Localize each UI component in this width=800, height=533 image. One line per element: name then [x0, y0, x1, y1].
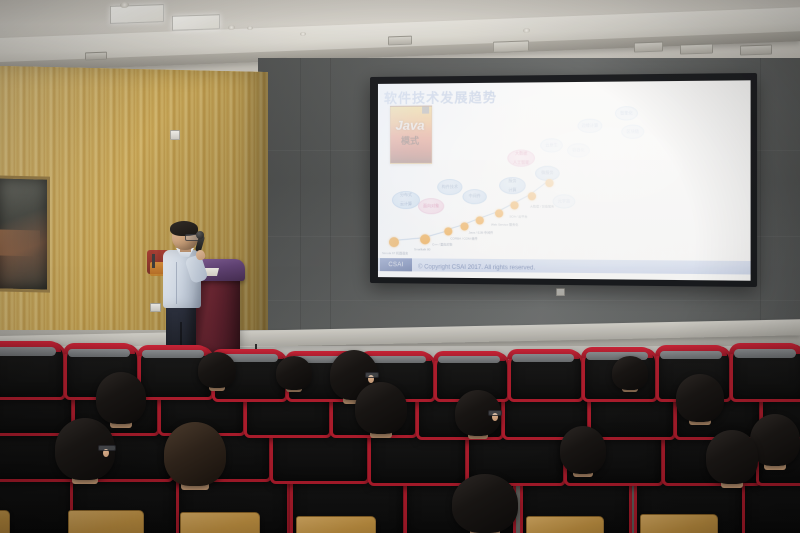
- seat-tablet-arm: [526, 516, 604, 533]
- slide-timeline-dot: [460, 222, 468, 230]
- seat-headrest-bar: [512, 354, 574, 362]
- auditorium-photo: 软件技术发展趋势 Java 模式 分布式云计算面向对象构件技术中间件服务计算大数…: [0, 0, 800, 533]
- seat-headrest-bar: [438, 356, 500, 363]
- slide-timeline-label: Java / EJB 中间件: [469, 230, 494, 234]
- slide-concept-bubble: 云原生: [540, 138, 563, 152]
- seat-tablet-arm: [640, 514, 718, 533]
- slide-concept-bubble: 面向对象: [418, 198, 444, 214]
- audience-head: [198, 352, 236, 388]
- air-vent: [634, 41, 663, 52]
- slide-timeline-dot: [476, 216, 484, 224]
- projection-screen-frame: 软件技术发展趋势 Java 模式 分布式云计算面向对象构件技术中间件服务计算大数…: [370, 73, 757, 287]
- slide-timeline-label: Simula 67 机器语言: [382, 251, 408, 255]
- slide-timeline-dot: [389, 237, 399, 247]
- seat-headrest-bar: [0, 347, 56, 356]
- slide-timeline-dot: [420, 234, 430, 244]
- microphone-stand: [152, 254, 155, 268]
- slide-copyright-text: © Copyright CSAI 2017. All rights reserv…: [418, 264, 535, 271]
- recessed-downlight: [388, 36, 412, 46]
- book-cover-tag: [422, 107, 429, 114]
- seat: [508, 350, 578, 396]
- seat-headrest-bar: [68, 349, 130, 358]
- seat-headrest-bar: [660, 351, 722, 360]
- seat: [730, 344, 800, 396]
- slide-concept-bubble: 区块链: [621, 125, 644, 139]
- seat-headrest-bar: [734, 349, 796, 358]
- audience-head: [164, 422, 226, 486]
- microphone-head: [196, 231, 204, 239]
- wall-switch: [170, 130, 180, 140]
- slide-timeline-dot: [495, 209, 503, 217]
- projection-screen-surface: 软件技术发展趋势 Java 模式 分布式云计算面向对象构件技术中间件服务计算大数…: [378, 80, 751, 280]
- recessed-downlight: [85, 52, 107, 61]
- slide-concept-bubble: 元宇宙: [553, 194, 576, 208]
- wall-outlet: [556, 288, 565, 296]
- slide-concept-bubble: 服务计算: [499, 177, 526, 194]
- book-cover-title: Java: [392, 118, 428, 133]
- slide-concept-bubble: 智能化: [615, 106, 638, 121]
- seat-tablet-arm: [68, 510, 144, 533]
- audience-glasses: [98, 445, 116, 451]
- audience-head: [560, 426, 606, 474]
- audience-glasses: [365, 372, 379, 378]
- seat: [0, 342, 60, 394]
- audience-head: [452, 474, 518, 533]
- slide-timeline-dot: [510, 201, 518, 209]
- audience-glasses: [488, 410, 502, 416]
- wall-outlet: [150, 303, 161, 312]
- air-vent: [740, 44, 772, 55]
- audience-head: [612, 356, 648, 390]
- framed-artwork-gleam: [0, 229, 40, 256]
- speaker-shirt-fold: [176, 262, 177, 304]
- slide-concept-bubbles: 分布式云计算面向对象构件技术中间件服务计算大数据人工智能微服务云原生容器化边缘计…: [378, 80, 751, 84]
- audience-head: [706, 430, 758, 484]
- slide-concept-bubble: 大数据人工智能: [507, 149, 535, 166]
- air-vent: [680, 43, 713, 54]
- slide-timeline-label: SOA / 云平台: [509, 214, 527, 218]
- slide-timeline: [378, 80, 751, 84]
- slide-timeline-label: Web Service 服务化: [491, 223, 518, 227]
- slide-concept-bubble: 构件技术: [437, 179, 462, 195]
- seat-tablet-arm: [180, 512, 260, 533]
- slide-timeline-dot: [444, 227, 452, 235]
- book-cover-subtitle: 模式: [392, 134, 428, 147]
- slide-timeline-label: Smalltalk 80: [414, 247, 430, 251]
- slide-timeline-label: CORBA / COM 组件: [450, 236, 477, 240]
- slide-timeline-dot: [545, 179, 553, 187]
- audience-head: [676, 374, 724, 422]
- air-vent: [493, 40, 529, 52]
- audience-head: [96, 372, 146, 424]
- audience-head: [276, 356, 312, 390]
- slide-footer-logo: CSAI: [380, 258, 412, 271]
- recessed-linear-light: [172, 14, 220, 31]
- slide-timeline-label: C++ / 面向对象: [432, 242, 452, 246]
- seat-tablet-arm: [296, 516, 376, 533]
- projector-glow: [378, 80, 751, 280]
- slide-concept-bubble: 中间件: [462, 189, 486, 204]
- slide-concept-bubble: 分布式云计算: [392, 191, 420, 209]
- recessed-linear-light: [110, 4, 164, 24]
- slide-timeline-labels: Simula 67 机器语言Smalltalk 80C++ / 面向对象CORB…: [378, 80, 751, 84]
- slide-concept-bubble: 容器化: [567, 143, 590, 157]
- seat-tablet-arm: [0, 510, 10, 533]
- slide-timeline-dot: [528, 192, 536, 200]
- slide-title: 软件技术发展趋势: [384, 87, 497, 107]
- slide-timeline-label: 大数据 / 智能服务: [530, 204, 554, 208]
- seat: [434, 352, 504, 396]
- slide-concept-bubble: 边缘计算: [577, 119, 602, 133]
- seat-headrest-bar: [142, 350, 204, 358]
- audience-head: [355, 382, 407, 434]
